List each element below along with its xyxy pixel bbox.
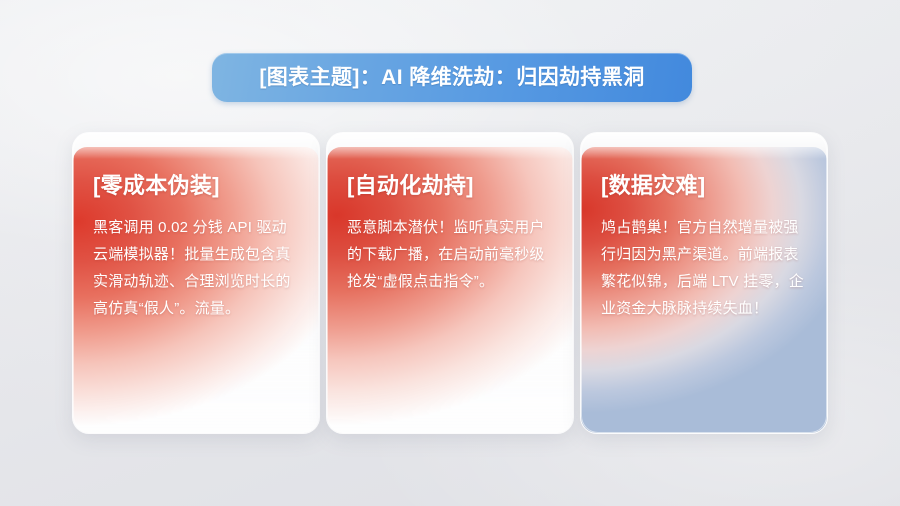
card-row: [零成本伪装] 黑客调用 0.02 分钱 API 驱动云端模拟器！批量生成包含真…: [72, 132, 828, 432]
card-heading: [自动化劫持]: [347, 173, 553, 198]
page-title: [图表主题]：AI 降维洗劫：归因劫持黑洞: [259, 67, 644, 88]
card-content: [零成本伪装] 黑客调用 0.02 分钱 API 驱动云端模拟器！批量生成包含真…: [73, 133, 319, 322]
card-heading: [数据灾难]: [601, 173, 807, 198]
infographic-canvas: [图表主题]：AI 降维洗劫：归因劫持黑洞 [零成本伪装] 黑客调用 0.02 …: [0, 0, 900, 506]
card-description: 黑客调用 0.02 分钱 API 驱动云端模拟器！批量生成包含真实滑动轨迹、合理…: [93, 214, 299, 322]
card-content: [自动化劫持] 恶意脚本潜伏！监听真实用户的下载广播，在启动前毫秒级抢发“虚假点…: [327, 133, 573, 295]
chart-title-banner: [图表主题]：AI 降维洗劫：归因劫持黑洞: [212, 53, 692, 102]
card-content: [数据灾难] 鸠占鹊巢！官方自然增量被强行归因为黑产渠道。前端报表繁花似锦，后端…: [581, 133, 827, 322]
card-heading: [零成本伪装]: [93, 173, 299, 198]
card-automated-hijack: [自动化劫持] 恶意脚本潜伏！监听真实用户的下载广播，在启动前毫秒级抢发“虚假点…: [326, 132, 574, 434]
card-description: 恶意脚本潜伏！监听真实用户的下载广播，在启动前毫秒级抢发“虚假点击指令”。: [347, 214, 553, 295]
card-data-disaster: [数据灾难] 鸠占鹊巢！官方自然增量被强行归因为黑产渠道。前端报表繁花似锦，后端…: [580, 132, 828, 434]
card-description: 鸠占鹊巢！官方自然增量被强行归因为黑产渠道。前端报表繁花似锦，后端 LTV 挂零…: [601, 214, 807, 322]
card-zero-cost-disguise: [零成本伪装] 黑客调用 0.02 分钱 API 驱动云端模拟器！批量生成包含真…: [72, 132, 320, 434]
